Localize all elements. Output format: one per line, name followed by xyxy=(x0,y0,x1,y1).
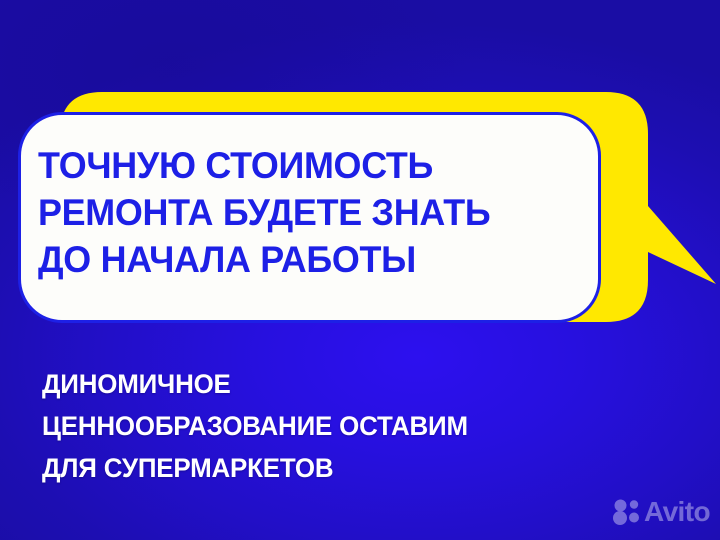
ad-banner: ТОЧНУЮ СТОИМОСТЬ РЕМОНТА БУДЕТЕ ЗНАТЬ ДО… xyxy=(0,0,720,540)
headline-text-block: ТОЧНУЮ СТОИМОСТЬ РЕМОНТА БУДЕТЕ ЗНАТЬ ДО… xyxy=(38,142,598,283)
headline-line-2: РЕМОНТА БУДЕТЕ ЗНАТЬ xyxy=(38,189,581,236)
subtitle-line-2: ЦЕННООБРАЗОВАНИЕ ОСТАВИМ xyxy=(42,405,637,447)
headline-line-1: ТОЧНУЮ СТОИМОСТЬ xyxy=(38,142,581,189)
subtitle-line-3: ДЛЯ СУПЕРМАРКЕТОВ xyxy=(42,447,637,489)
avito-dots-icon xyxy=(612,499,640,525)
subtitle-line-1: ДИНОМИЧНОЕ xyxy=(42,363,637,405)
avito-wordmark: Avito xyxy=(644,498,710,526)
avito-watermark: Avito xyxy=(612,498,710,526)
subtitle-text-block: ДИНОМИЧНОЕ ЦЕННООБРАЗОВАНИЕ ОСТАВИМ ДЛЯ … xyxy=(42,363,662,489)
headline-line-3: ДО НАЧАЛА РАБОТЫ xyxy=(38,236,581,283)
